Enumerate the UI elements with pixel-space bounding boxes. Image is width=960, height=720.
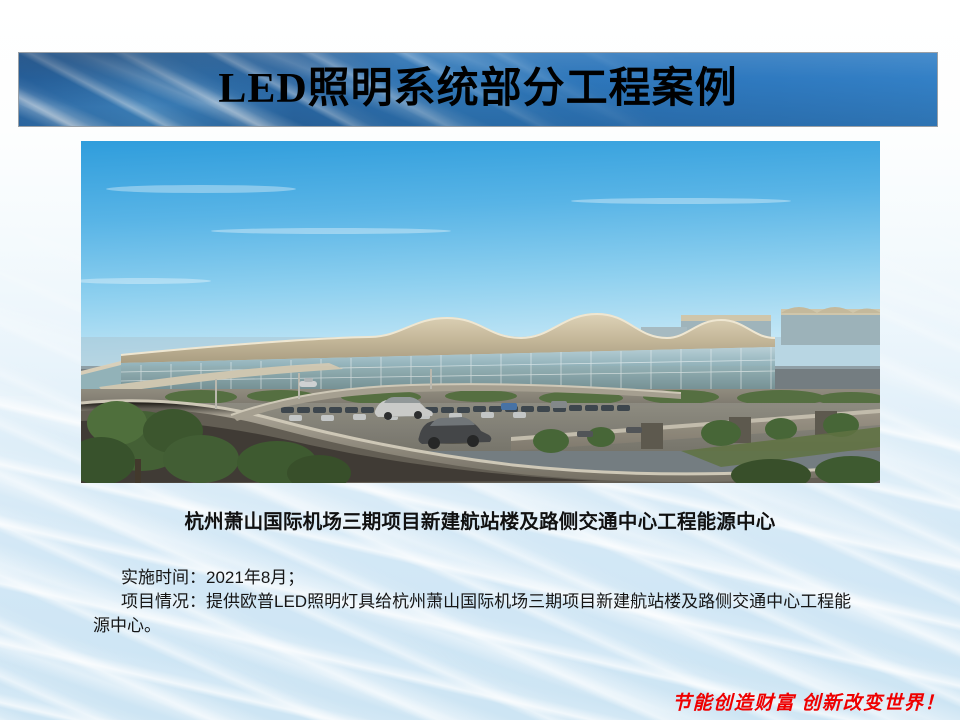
footer-slogan: 节能创造财富 创新改变世界！ (672, 688, 945, 715)
project-description: 实施时间：2021年8月； 项目情况：提供欧普LED照明灯具给杭州萧山国际机场三… (93, 566, 853, 638)
project-situation-line: 项目情况：提供欧普LED照明灯具给杭州萧山国际机场三期项目新建航站楼及路侧交通中… (93, 590, 853, 638)
project-photo (81, 141, 880, 483)
photo-caption: 杭州萧山国际机场三期项目新建航站楼及路侧交通中心工程能源中心 (0, 505, 960, 534)
title-banner: LED照明系统部分工程案例 (18, 52, 938, 127)
project-photo-illustration (81, 141, 880, 483)
page-title: LED照明系统部分工程案例 (19, 53, 937, 126)
slide-canvas: LED照明系统部分工程案例 (0, 0, 960, 720)
implementation-time-line: 实施时间：2021年8月； (93, 566, 853, 590)
